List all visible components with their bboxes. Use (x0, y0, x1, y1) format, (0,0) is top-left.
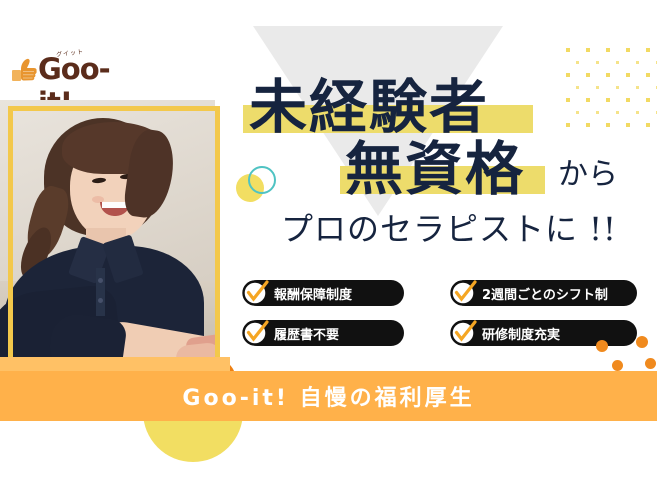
grid-dot (626, 73, 630, 77)
feature-badge-1[interactable]: 報酬保障制度 (244, 280, 404, 306)
thumbs-up-icon (12, 58, 38, 90)
grid-dot (626, 48, 630, 52)
grid-dot (646, 98, 650, 102)
grid-dot (586, 98, 590, 102)
grid-dot (636, 61, 639, 64)
feature-badge-label: 2週間ごとのシフト制 (482, 284, 608, 303)
promo-banner: グイット Goo-it! 未経験者 無資格 から (0, 0, 657, 484)
grid-dot (616, 86, 619, 89)
headline-line-1: 未経験者 (249, 78, 489, 136)
grid-dot (636, 111, 639, 114)
headline-line-3: プロのセラピストに !! (281, 213, 617, 245)
grid-dot (606, 48, 610, 52)
grid-dot (616, 111, 619, 114)
orange-dot-decoration (636, 336, 648, 348)
grid-dot (576, 111, 579, 114)
grid-dot (616, 61, 619, 64)
check-circle-icon (444, 274, 482, 312)
grid-dot (626, 123, 630, 127)
feature-badge-2[interactable]: 2週間ごとのシフト制 (452, 280, 637, 306)
grid-dot (566, 98, 570, 102)
grid-dot (566, 123, 570, 127)
circle-decoration (236, 166, 282, 206)
grid-dot (576, 61, 579, 64)
grid-dot (596, 86, 599, 89)
grid-dot (586, 73, 590, 77)
photo-frame (8, 106, 220, 388)
feature-badge-label: 報酬保障制度 (274, 284, 352, 303)
grid-dot (596, 61, 599, 64)
grid-dot (586, 48, 590, 52)
circle-outline-icon (248, 166, 276, 194)
feature-badge-3[interactable]: 履歴書不要 (244, 320, 404, 346)
dot-grid-decoration (566, 48, 657, 134)
orange-dot-decoration (612, 360, 623, 371)
grid-dot (606, 123, 610, 127)
goo-it-logo[interactable]: グイット Goo-it! (12, 50, 122, 96)
bottom-banner-text: Goo-it! 自慢の福利厚生 (0, 371, 657, 421)
check-circle-icon (236, 274, 274, 312)
orange-dot-decoration (596, 340, 608, 352)
feature-badge-4[interactable]: 研修制度充実 (452, 320, 637, 346)
grid-dot (566, 48, 570, 52)
grid-dot (646, 48, 650, 52)
headline-line-2: 無資格 (345, 140, 525, 198)
grid-dot (636, 86, 639, 89)
grid-dot (646, 123, 650, 127)
grid-dot (606, 73, 610, 77)
grid-dot (646, 73, 650, 77)
grid-dot (586, 123, 590, 127)
feature-badge-label: 履歴書不要 (274, 324, 339, 343)
orange-dot-decoration (645, 358, 656, 369)
check-circle-icon (444, 314, 482, 352)
grid-dot (576, 86, 579, 89)
banner-accent-strip (0, 357, 230, 371)
headline-line-2-suffix: から (558, 160, 618, 190)
grid-dot (566, 73, 570, 77)
grid-dot (626, 98, 630, 102)
feature-badge-label: 研修制度充実 (482, 324, 560, 343)
grid-dot (606, 98, 610, 102)
check-circle-icon (236, 314, 274, 352)
grid-dot (596, 111, 599, 114)
